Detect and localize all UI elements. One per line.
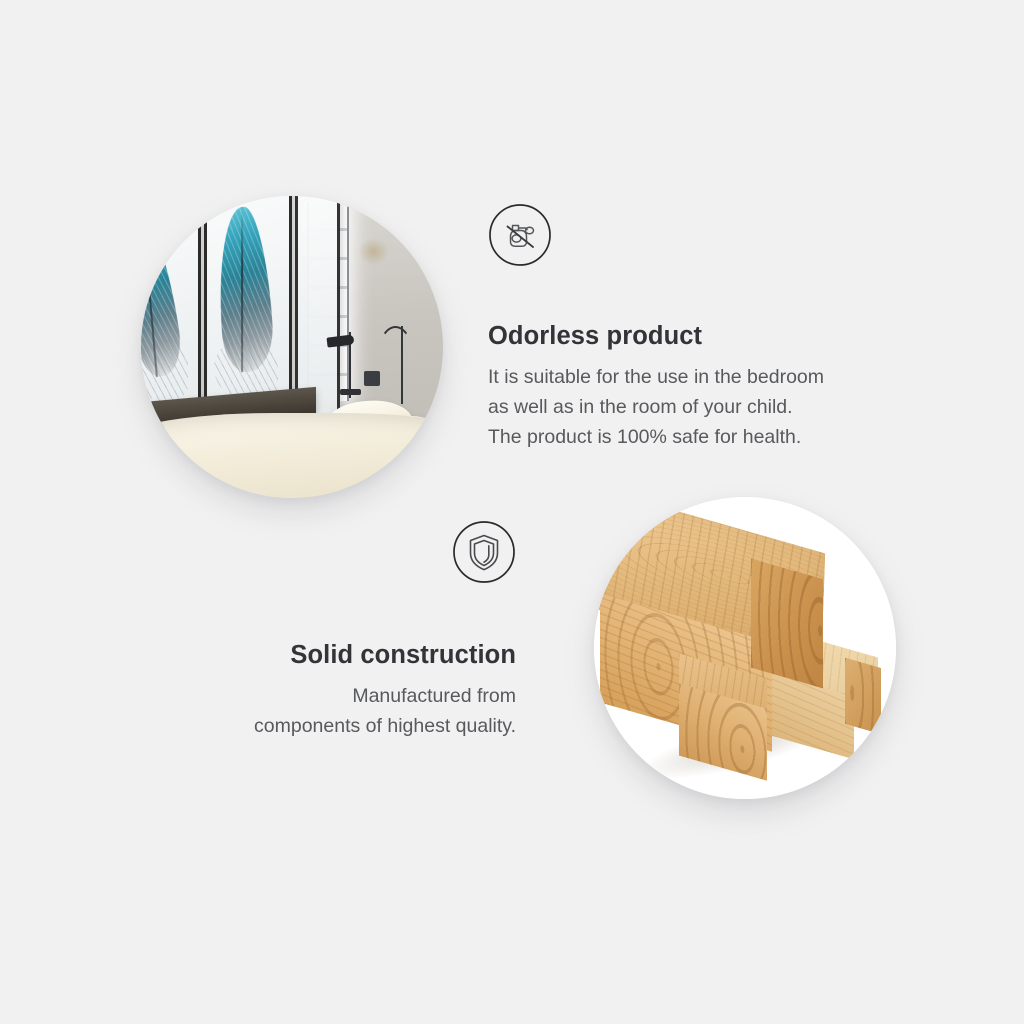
- feature-description-line: components of highest quality.: [76, 711, 516, 741]
- beam-end-grain-face: [751, 559, 823, 688]
- feature-odorless-product: Odorless product It is suitable for the …: [488, 203, 928, 452]
- feature-description-line: as well as in the room of your child.: [488, 392, 928, 422]
- shield-icon: [452, 520, 516, 584]
- desk-lamp-base: [340, 389, 361, 395]
- feature-solid-construction: Solid construction Manufactured from com…: [76, 520, 516, 741]
- no-perfume-icon: [488, 203, 552, 267]
- feature-description-line: The product is 100% safe for health.: [488, 422, 928, 452]
- plank-end-grain-face: [845, 658, 881, 735]
- bed-duvet: [141, 413, 443, 498]
- feather-art-panel-1: [141, 196, 201, 419]
- feather-art-panel-2: [204, 196, 292, 419]
- feature-title: Solid construction: [76, 584, 516, 670]
- feature-title: Odorless product: [488, 267, 928, 351]
- wall-patina: [358, 238, 388, 265]
- feature-description: Manufactured from components of highest …: [76, 670, 516, 741]
- feature-description-line: Manufactured from: [76, 681, 516, 711]
- feature-description-line: It is suitable for the use in the bedroo…: [488, 362, 928, 392]
- wooden-blocks-photo: [594, 497, 896, 799]
- feather-art-panel-3: [295, 196, 340, 419]
- feature-description: It is suitable for the use in the bedroo…: [488, 351, 928, 452]
- bedroom-scene: [141, 196, 443, 498]
- wood-scene: [594, 497, 896, 799]
- floor-lamp-arc: [377, 326, 414, 390]
- feather-wisp: [141, 339, 188, 400]
- product-feature-banner: Odorless product It is suitable for the …: [0, 0, 1024, 1024]
- bedroom-feather-photo: [141, 196, 443, 498]
